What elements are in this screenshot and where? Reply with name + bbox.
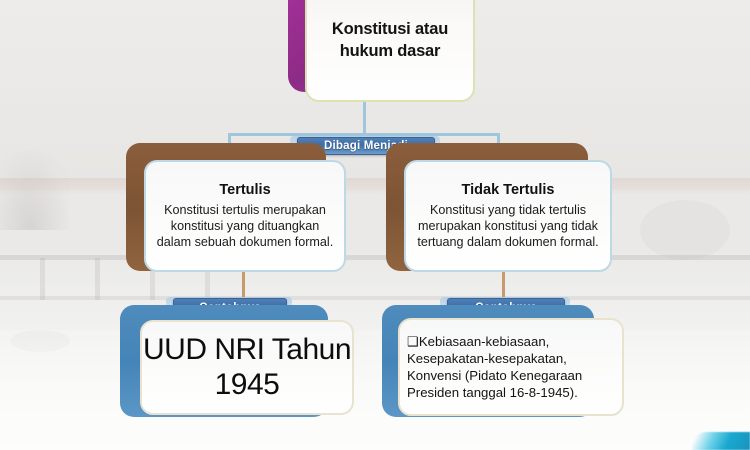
background-blur-spot	[640, 200, 730, 260]
background-roofline	[0, 178, 750, 194]
background-bridge-deck	[0, 255, 750, 260]
background-pillar	[95, 258, 100, 300]
diagram-canvas: Konstitusi atau hukum dasar Dibagi Menja…	[0, 0, 750, 450]
title-node[interactable]: Konstitusi atau hukum dasar	[305, 0, 475, 102]
title-node-text: Konstitusi atau hukum dasar	[307, 18, 473, 63]
branch-left-card[interactable]: Tertulis Konstitusi tertulis merupakan k…	[144, 160, 346, 272]
example-right-text: ❑Kebiasaan-kebiasaan, Kesepakatan-kesepa…	[400, 333, 622, 402]
background-bridge-rail	[0, 296, 750, 300]
example-left-text: UUD NRI Tahun 1945	[142, 333, 352, 401]
branch-right-heading: Tidak Tertulis	[462, 182, 555, 198]
corner-accent-shape	[692, 432, 750, 450]
branch-left-body: Konstitusi tertulis merupakan konstitusi…	[146, 202, 344, 250]
connector-top-vertical	[363, 101, 366, 135]
branch-right-body: Konstitusi yang tidak tertulis merupakan…	[406, 202, 610, 250]
background-haze	[0, 330, 750, 450]
branch-left-heading: Tertulis	[219, 182, 270, 198]
example-left-card[interactable]: UUD NRI Tahun 1945	[140, 320, 354, 415]
example-right-card[interactable]: ❑Kebiasaan-kebiasaan, Kesepakatan-kesepa…	[398, 318, 624, 416]
background-dome	[0, 150, 70, 230]
branch-right-card[interactable]: Tidak Tertulis Konstitusi yang tidak ter…	[404, 160, 612, 272]
background-pillar	[40, 258, 45, 300]
